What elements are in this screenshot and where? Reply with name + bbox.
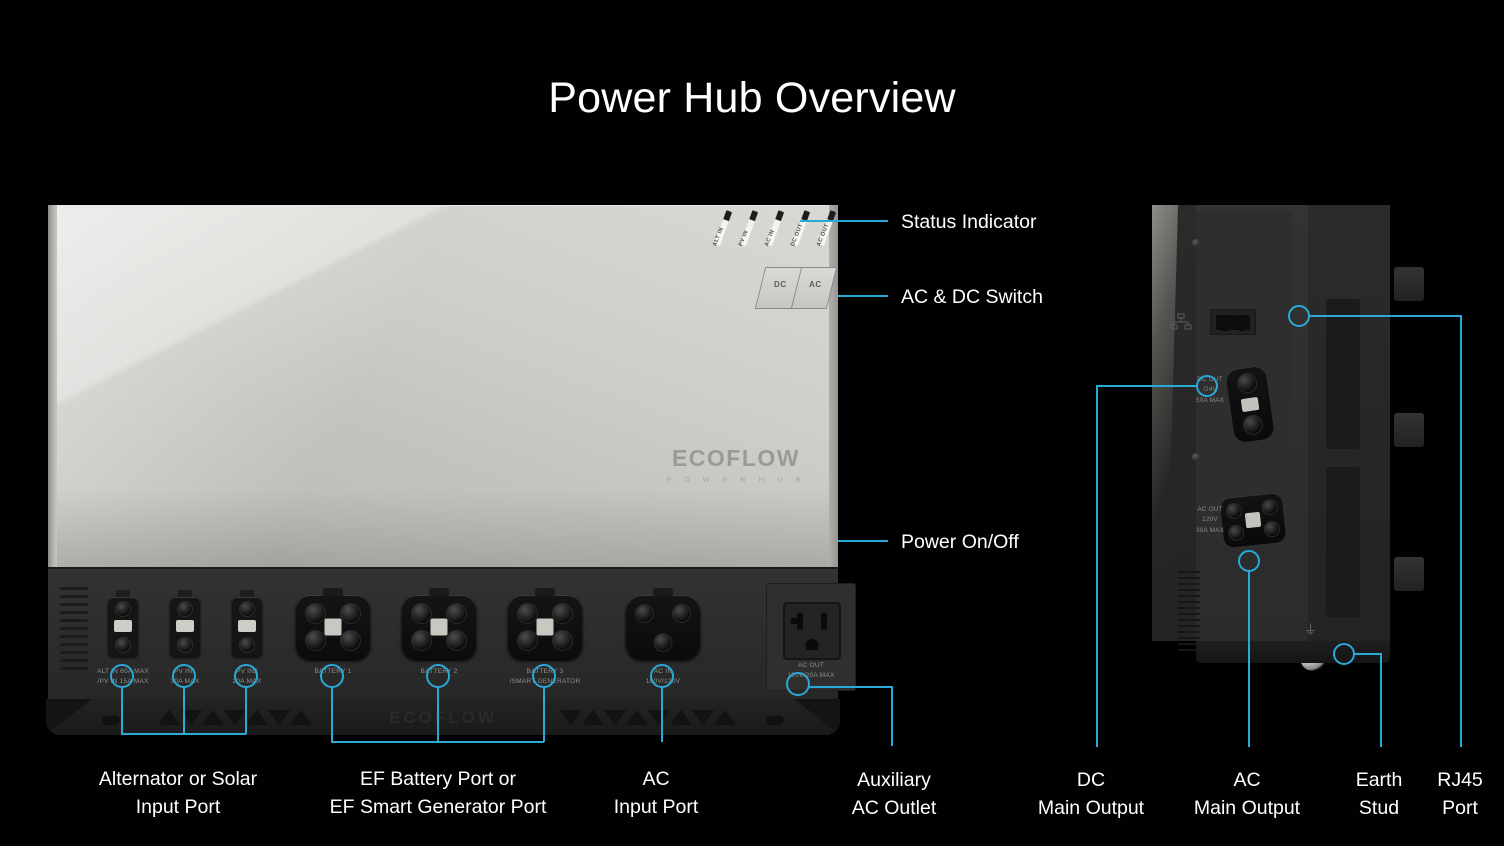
marker-earth-stud [1333, 643, 1355, 665]
switch-label-dc: DC [774, 280, 787, 289]
port-pv-in-1[interactable] [170, 597, 200, 657]
port-ac-in[interactable] [626, 595, 700, 659]
side-screw-top [1192, 239, 1200, 247]
callout-earth-stud: EarthStud [1356, 766, 1403, 823]
port-pv-in-2[interactable] [232, 597, 262, 657]
marker-battery-1 [320, 664, 344, 688]
marker-battery-2 [426, 664, 450, 688]
power-hub-side-view: DC OUT /24V 50A MAX AC OUT 120V 30A MAX … [1152, 205, 1414, 725]
callout-alternator-solar-input-port: Alternator or SolarInput Port [99, 765, 257, 822]
callout-rj45-port: RJ45Port [1437, 766, 1483, 823]
marker-ac-main-output [1238, 550, 1260, 572]
side-mount-tab-top [1394, 267, 1424, 301]
switch-label-ac: AC [809, 280, 822, 289]
callout-ac-main-output: ACMain Output [1194, 766, 1300, 823]
port-battery-1[interactable] [296, 595, 370, 659]
base-foot-right [766, 716, 784, 725]
slide-canvas: Power Hub Overview ALT IN PV IN AC IN DC… [0, 0, 1504, 846]
callout-ef-battery-generator-port: EF Battery Port orEF Smart Generator Por… [330, 765, 547, 822]
side-mount-tab-bottom [1394, 557, 1424, 591]
status-indicator-leds: ALT IN PV IN AC IN DC OUT AC OUT [708, 209, 858, 265]
port-battery-3[interactable] [508, 595, 582, 659]
callout-ac-dc-switch: AC & DC Switch [901, 285, 1043, 311]
power-hub-front-view: ALT IN PV IN AC IN DC OUT AC OUT DC AC E… [48, 205, 838, 735]
side-mount-tab-mid [1394, 413, 1424, 447]
page-title: Power Hub Overview [0, 74, 1504, 123]
callout-status-indicator: Status Indicator [901, 210, 1037, 236]
brand-name: ECOFLOW [656, 445, 816, 472]
side-slot-lower [1326, 467, 1360, 617]
front-left-edge [48, 205, 57, 567]
panel-vents-left [60, 587, 88, 679]
brand-product: P O W E R H U B [656, 475, 816, 484]
marker-dc-main-output [1196, 375, 1218, 397]
label-ac-out: AC OUT 120V 30A MAX [1196, 505, 1224, 536]
port-alt-pv-in[interactable] [108, 597, 138, 657]
base-corner-left [46, 699, 92, 735]
marker-pv-in-2 [234, 664, 258, 688]
leader-ac-dc-switch [838, 295, 888, 297]
rj45-port-pair[interactable] [1210, 309, 1256, 335]
side-base [1196, 641, 1390, 663]
marker-pv-in-1 [172, 664, 196, 688]
port-battery-2[interactable] [402, 595, 476, 659]
ac-main-output-connector[interactable] [1220, 492, 1287, 548]
marker-battery-3 [532, 664, 556, 688]
marker-ac-in [650, 664, 674, 688]
marker-ac-out [786, 672, 810, 696]
ac-dc-switch-control[interactable]: DC AC [760, 267, 832, 309]
side-slot-upper [1326, 299, 1360, 449]
network-icon [1170, 313, 1192, 331]
base-brand-text: ECOFLOW [389, 708, 497, 728]
marker-rj45-port [1288, 305, 1310, 327]
auxiliary-ac-outlet[interactable] [783, 602, 841, 660]
leader-status-indicator [800, 220, 888, 222]
marker-alt-pv-in [110, 664, 134, 688]
rj45-jack-1[interactable] [1216, 315, 1233, 330]
unit-base: ECOFLOW [46, 699, 840, 735]
brand-mark: ECOFLOW P O W E R H U B [656, 445, 816, 484]
side-screw-bottom [1192, 453, 1200, 461]
callout-dc-main-output: DCMain Output [1038, 766, 1144, 823]
base-corner-right [794, 699, 840, 735]
callout-auxiliary-ac-outlet: AuxiliaryAC Outlet [852, 766, 937, 823]
leader-power-on-off [838, 540, 888, 542]
rj45-jack-2[interactable] [1233, 315, 1250, 330]
callout-power-on-off: Power On/Off [901, 530, 1019, 556]
base-foot-left [102, 716, 120, 725]
callout-ac-input-port: ACInput Port [614, 765, 699, 822]
earth-ground-icon: ⏚ [1304, 619, 1317, 638]
